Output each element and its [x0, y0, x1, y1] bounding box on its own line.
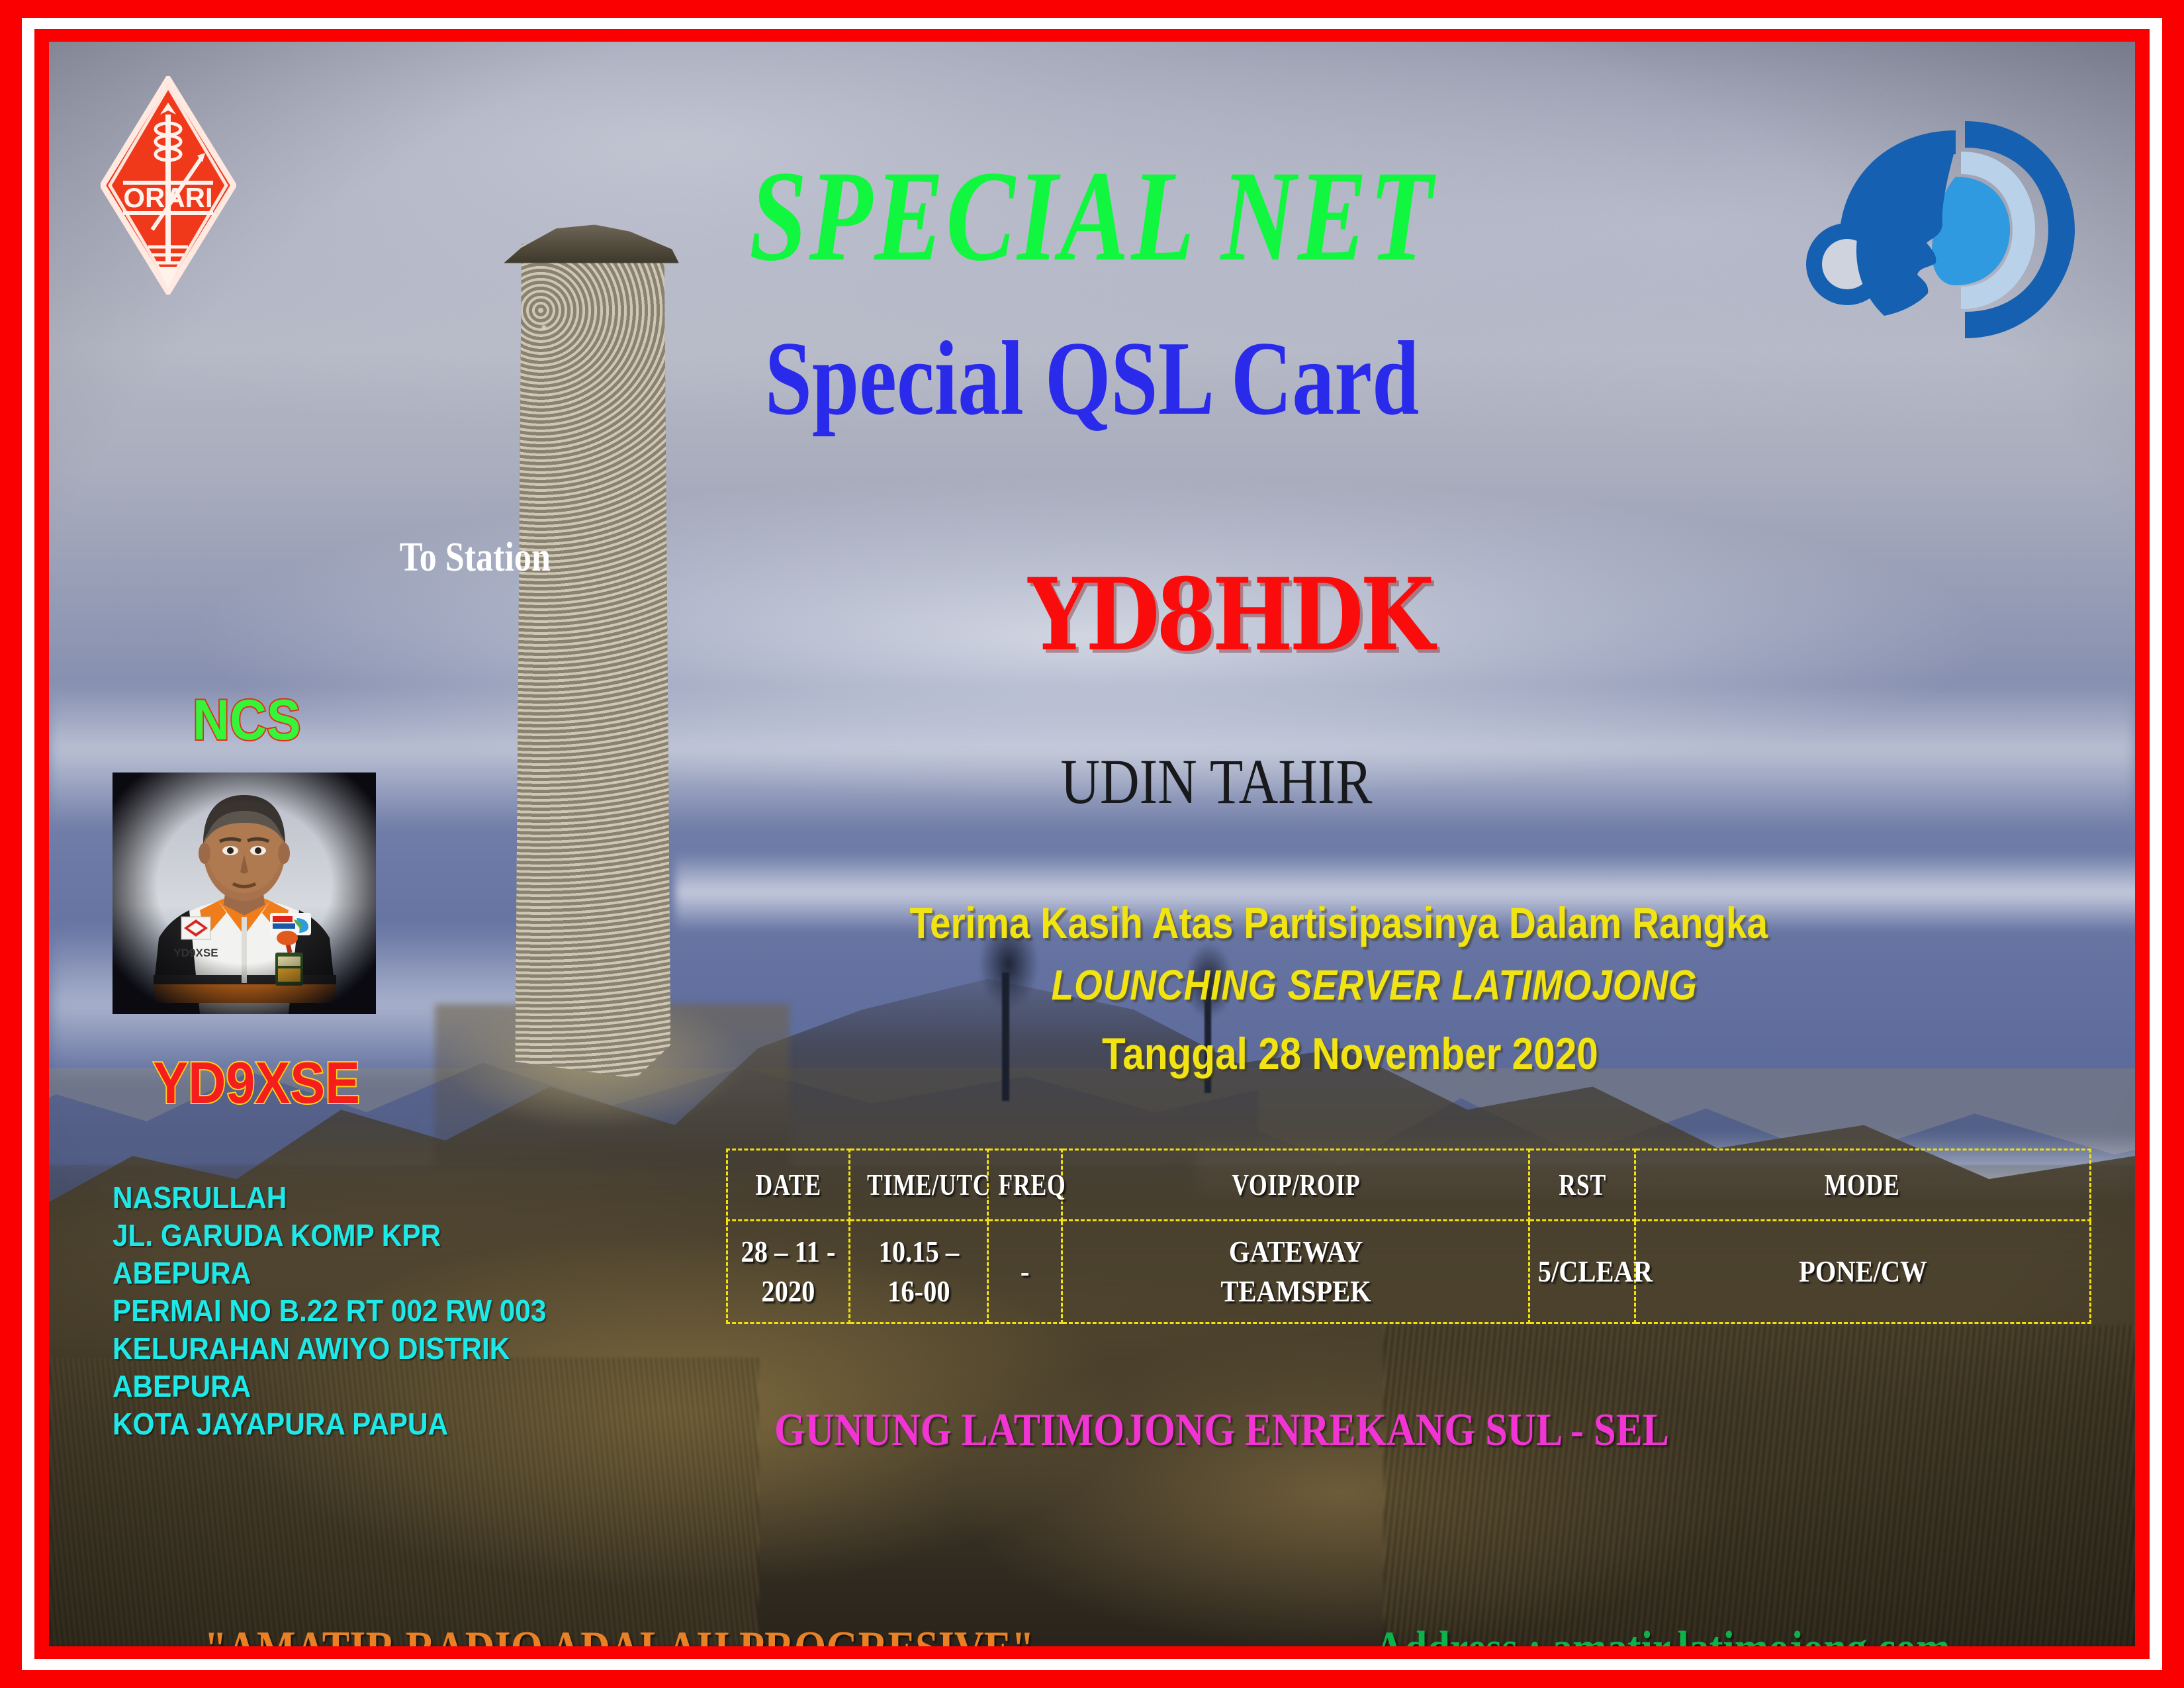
card-subtitle-special-qsl-card: Special QSL Card — [257, 325, 1927, 431]
table-header-cell: VOIP/ROIP — [1090, 1150, 1501, 1221]
operator-name: UDIN TAHIR — [1060, 745, 1372, 818]
to-station-label: To Station — [400, 534, 551, 581]
orari-logo-text: ORARI — [123, 182, 212, 213]
table-header-row: DATE TIME/UTC FREQ VOIP/ROIP RST MODE — [727, 1150, 2091, 1221]
orari-logo: ORARI — [101, 76, 236, 295]
table-cell-date: 28 – 11 - 2020 — [727, 1221, 850, 1323]
frame-inner-red: ORARI — [34, 29, 2150, 1659]
frame-white-gap: ORARI — [22, 18, 2162, 1670]
thanks-line-2-event: LOUNCHING SERVER LATIMOJONG — [1051, 961, 1697, 1009]
sender-address-block: NASRULLAH JL. GARUDA KOMP KPR ABEPURA PE… — [113, 1179, 546, 1443]
table-header-cell: TIME/UTC — [858, 1150, 980, 1221]
table-cell-freq: - — [988, 1221, 1062, 1323]
address-line: KOTA JAYAPURA PAPUA — [113, 1405, 546, 1443]
table-cell-mode: PONE/CW — [1635, 1221, 2090, 1323]
table-header-cell: DATE — [735, 1150, 842, 1221]
address-line: ABEPURA — [113, 1254, 546, 1292]
location-line: GUNUNG LATIMOJONG ENREKANG SUL - SEL — [774, 1404, 1669, 1457]
recipient-callsign: YD8HDK — [1028, 557, 1432, 673]
table-header-cell: MODE — [1662, 1150, 2063, 1221]
thanks-line-3-date: Tanggal 28 November 2020 — [1102, 1028, 1598, 1080]
table-row: 28 – 11 - 2020 10.15 – 16-00 - GATEWAY T… — [727, 1221, 2091, 1323]
qsl-card: ORARI — [0, 0, 2184, 1688]
address-line: KELURAHAN AWIYO DISTRIK — [113, 1330, 546, 1368]
table-cell-time: 10.15 – 16-00 — [849, 1221, 988, 1323]
background-photograph: ORARI — [49, 42, 2135, 1646]
footer-motto: "AMATIR RADIO ADALAH PROGRESIVE" — [204, 1621, 1034, 1646]
address-line: NASRULLAH — [113, 1179, 546, 1217]
thanks-line-1: Terima Kasih Atas Partisipasinya Dalam R… — [910, 898, 1768, 948]
footer-web-address: Address : amatir.latimojong.com — [1375, 1621, 1950, 1646]
card-title-special-net: SPECIAL NET — [257, 152, 1927, 281]
table-header-cell: FREQ — [993, 1150, 1058, 1221]
ncs-callsign: YD9XSE — [153, 1049, 360, 1117]
table-cell-rst: 5/CLEAR — [1529, 1221, 1635, 1323]
ncs-operator-photo: YD9XSE — [113, 773, 376, 1014]
qso-log-table: DATE TIME/UTC FREQ VOIP/ROIP RST MODE 28… — [726, 1149, 2091, 1321]
ncs-label: NCS — [193, 688, 300, 753]
address-line: JL. GARUDA KOMP KPR — [113, 1217, 546, 1254]
address-line: ABEPURA — [113, 1368, 546, 1405]
table-cell-voip: GATEWAY TEAMSPEK — [1062, 1221, 1529, 1323]
address-line: PERMAI NO B.22 RT 002 RW 003 — [113, 1292, 546, 1330]
table-header-cell: RST — [1535, 1150, 1628, 1221]
